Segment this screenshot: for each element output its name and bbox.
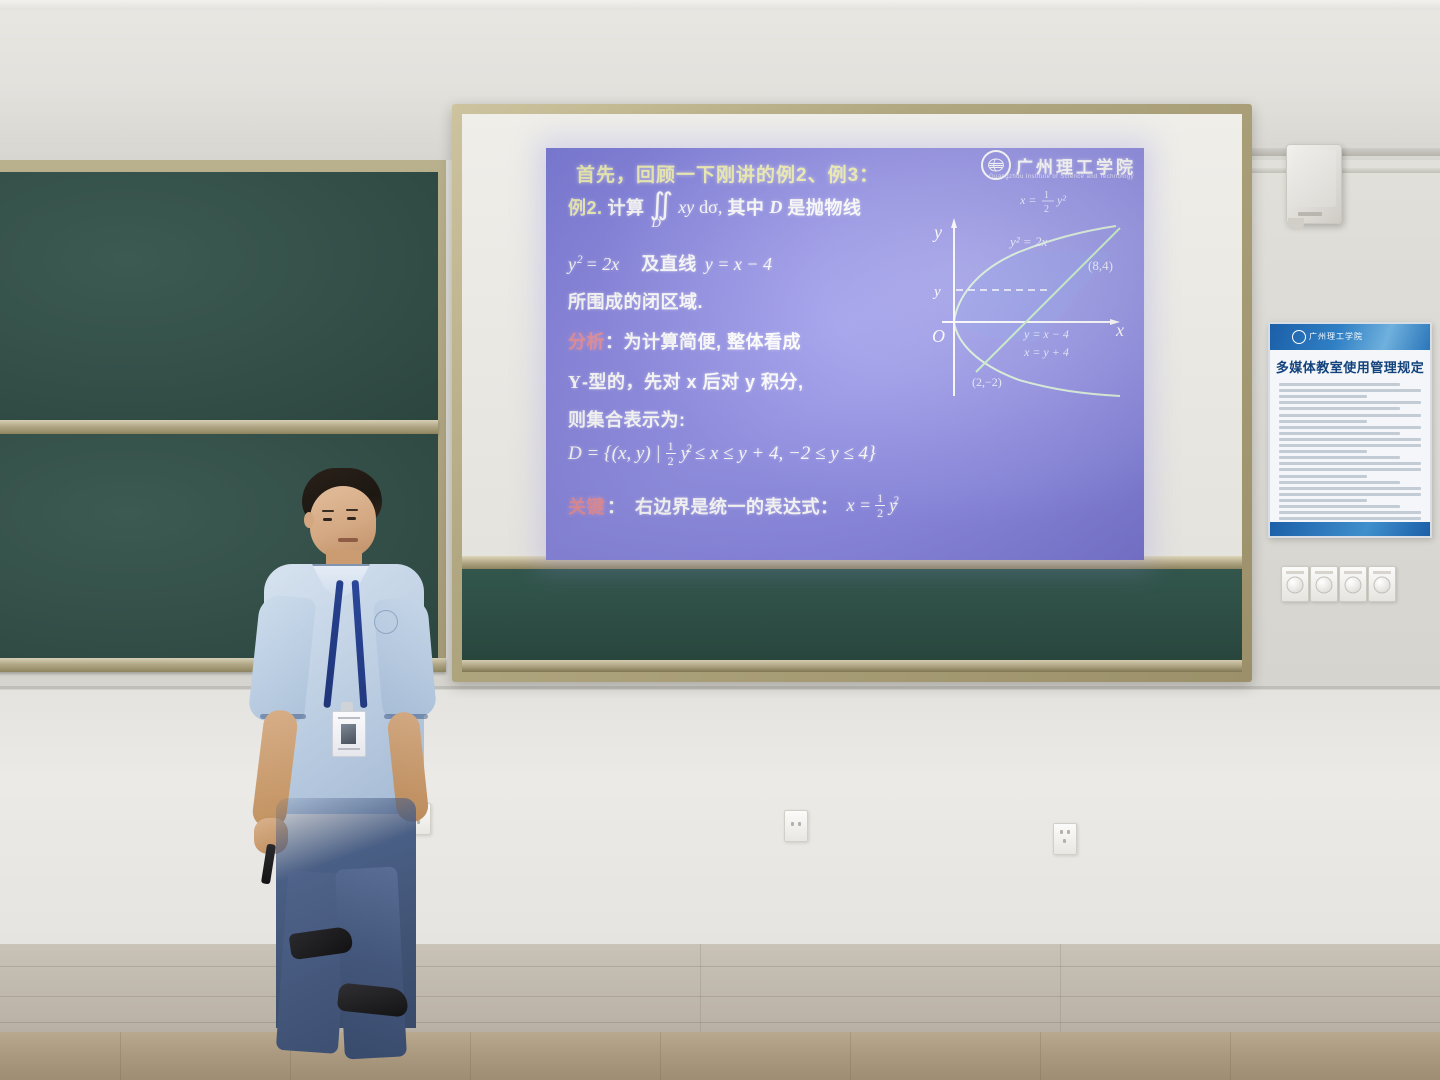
example-parabola-text: 是抛物线 (787, 194, 861, 220)
differential: dσ, (699, 197, 722, 218)
stage-platform-front (0, 1032, 1440, 1080)
eye-left (323, 518, 332, 521)
svg-text:y = x − 4: y = x − 4 (1023, 327, 1069, 341)
key-equation-prefix: x = (847, 495, 872, 516)
parabola-equation-lhs: y (568, 254, 576, 275)
lower-wall (0, 690, 1440, 950)
power-outlet-2[interactable] (784, 810, 808, 842)
example-verb: 计算 (608, 194, 645, 220)
mouth (338, 538, 358, 542)
svg-text:1: 1 (1044, 190, 1049, 201)
integral-subscript: D (652, 215, 661, 231)
speaker-grill (1292, 150, 1336, 207)
dimmer-label-3 (1344, 571, 1362, 574)
classroom-scene: 首先，回顾一下刚讲的例2、例3： 广州理工学院 Guangzhou Instit… (0, 0, 1440, 1080)
speaker-mount-bracket (1288, 218, 1304, 230)
svg-text:y² = 2x: y² = 2x (1008, 234, 1047, 249)
set-half-fraction: 1 2 (666, 440, 676, 467)
svg-text:(8,4): (8,4) (1088, 258, 1113, 273)
wall-rail-upper (1252, 148, 1440, 156)
set-prefix: D = {(x, y) | (568, 443, 661, 465)
svg-text:2: 2 (1044, 204, 1049, 215)
chalkboard-left-upper (0, 172, 438, 420)
ytype-label: Y (568, 372, 581, 393)
key-text: ： 右边界是统一的表达式： (607, 493, 839, 519)
shirt-chest-logo-icon (374, 610, 398, 634)
university-name-en: Guangzhou Institute of Science and Techn… (989, 174, 1134, 180)
slide-header: 首先，回顾一下刚讲的例2、例3： (576, 160, 879, 187)
chalkboard-lower-strip (462, 569, 1242, 662)
example-which: 其中 (727, 194, 764, 220)
ytype-text: -型的，先对 x 后对 y 积分, (582, 368, 804, 394)
eye-right (347, 517, 356, 520)
svg-text:y²: y² (1056, 193, 1066, 207)
slide-key-line: 关键 ： 右边界是统一的表达式： x = 1 2 y 2 (568, 492, 899, 519)
svg-text:y: y (932, 284, 941, 300)
wall-speaker (1286, 144, 1342, 224)
chalk-tray-middle (0, 420, 438, 434)
light-dimmer-3[interactable] (1339, 566, 1367, 602)
svg-text:x = y + 4: x = y + 4 (1023, 345, 1069, 359)
speaker-label-strip (1298, 212, 1322, 216)
set-inequalities: ≤ x ≤ y + 4, −2 ≤ y ≤ 4} (695, 443, 876, 465)
slide-equations-line: y 2 = 2x 及直线 y = x − 4 (568, 250, 772, 276)
stage-platform-top (0, 944, 1440, 1040)
dimmer-label-4 (1373, 571, 1391, 574)
eyebrow-left (322, 510, 334, 512)
integrand: xy (678, 197, 694, 218)
line-equation: y = x − 4 (705, 254, 772, 275)
example-label: 例2. (568, 194, 603, 220)
light-dimmer-4[interactable] (1368, 566, 1396, 602)
ear (304, 512, 314, 528)
id-badge (332, 711, 366, 757)
key-half-fraction: 1 2 (875, 492, 885, 519)
poster-title: 多媒体教室使用管理规定 (1270, 350, 1430, 380)
leg-right (335, 867, 407, 1060)
region-graph: y x O y y² = 2x (8,4) (2,−2) y = x − 4 x… (924, 190, 1136, 402)
chalk-tray-projection-bottom (462, 660, 1242, 672)
set-y-exp: 2 (686, 443, 692, 464)
projected-slide: 首先，回顾一下刚讲的例2、例3： 广州理工学院 Guangzhou Instit… (546, 148, 1144, 560)
dimmer-knob-3[interactable] (1345, 577, 1362, 594)
poster-header-band: 广州理工学院 (1270, 324, 1430, 350)
regulations-poster: 广州理工学院 多媒体教室使用管理规定 (1268, 322, 1432, 538)
svg-text:O: O (932, 326, 945, 346)
lecturer (246, 468, 462, 1028)
svg-text:x =: x = (1019, 193, 1036, 207)
dimmer-knob-2[interactable] (1316, 577, 1333, 594)
badge-photo (341, 724, 356, 744)
parabola-equation-rhs: = 2x (586, 254, 620, 275)
poster-seal-icon (1292, 330, 1306, 344)
ceiling-edge (0, 0, 1440, 10)
analysis-text: ：为计算简便, 整体看成 (605, 328, 801, 354)
wall-seam (0, 686, 1440, 689)
poster-body-text (1270, 383, 1430, 526)
wall-rail-lower (1252, 168, 1440, 173)
svg-text:y: y (932, 222, 942, 242)
line-text: 及直线 (641, 250, 697, 276)
svg-text:x: x (1115, 320, 1124, 340)
region-variable-D: D (769, 197, 782, 218)
analysis-label: 分析 (568, 328, 605, 354)
poster-university-name: 广州理工学院 (1309, 331, 1363, 342)
slide-closed-region-text: 所围成的闭区域. (568, 288, 703, 314)
slide-set-definition: D = {(x, y) | 1 2 y 2 ≤ x ≤ y + 4, −2 ≤ … (568, 440, 876, 467)
slide-example-line: 例2. 计算 ∬ D xy dσ, 其中 D 是抛物线 (568, 194, 861, 220)
power-outlet-3[interactable] (1053, 823, 1077, 855)
parabola-equation-exp: 2 (577, 254, 583, 275)
light-dimmer-1[interactable] (1281, 566, 1309, 602)
slide-set-intro: 则集合表示为: (568, 406, 686, 432)
face (310, 486, 376, 558)
dimmer-knob-4[interactable] (1374, 577, 1391, 594)
key-label: 关键 (568, 493, 605, 519)
slide-ytype-line: Y -型的，先对 x 后对 y 积分, (568, 368, 804, 394)
dimmer-label-2 (1315, 571, 1333, 574)
slide-analysis-line: 分析 ：为计算简便, 整体看成 (568, 328, 801, 354)
key-equation-exp: 2 (893, 495, 899, 516)
light-dimmer-2[interactable] (1310, 566, 1338, 602)
poster-footer-band (1270, 522, 1430, 536)
dimmer-knob-1[interactable] (1287, 577, 1304, 594)
svg-text:(2,−2): (2,−2) (972, 375, 1002, 389)
eyebrow-right (346, 509, 358, 511)
dimmer-label-1 (1286, 571, 1304, 574)
